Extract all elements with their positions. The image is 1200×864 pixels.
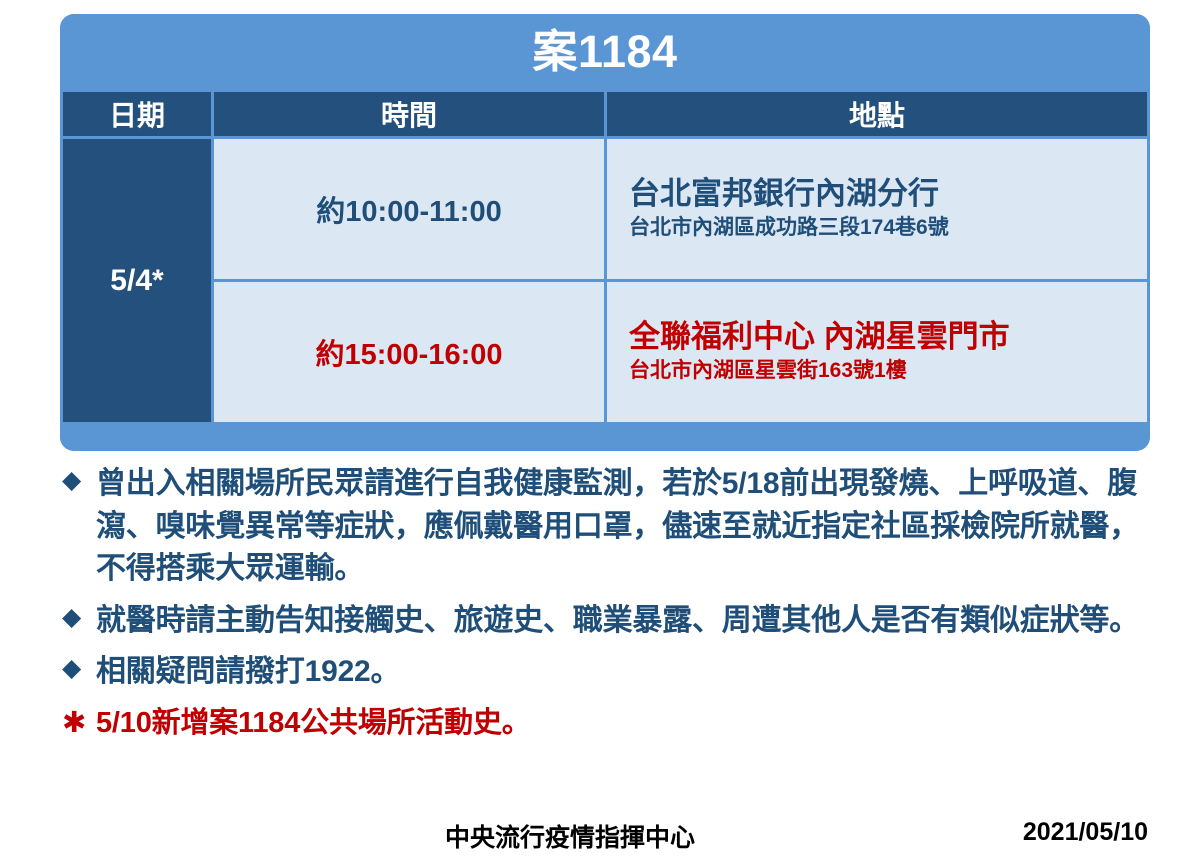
- place-address: 台北市內湖區星雲街163號1樓: [629, 357, 1147, 384]
- list-item: ◆ 相關疑問請撥打1922。: [62, 651, 1152, 694]
- table-row: 約15:00-16:00 全聯福利中心 內湖星雲門市 台北市內湖區星雲街163號…: [63, 282, 1147, 422]
- cell-time: 約10:00-11:00: [214, 139, 604, 279]
- note-text: 相關疑問請撥打1922。: [96, 651, 1152, 694]
- list-item: ◆ 就醫時請主動告知接觸史、旅遊史、職業暴露、周遭其他人是否有類似症狀等。: [62, 600, 1152, 643]
- page-title: 案1184: [60, 14, 1150, 89]
- note-text: 就醫時請主動告知接觸史、旅遊史、職業暴露、周遭其他人是否有類似症狀等。: [96, 600, 1152, 643]
- table-header-row: 日期 時間 地點: [63, 92, 1147, 136]
- activity-history-table: 日期 時間 地點 5/4* 約10:00-11:00 台北富邦銀行內湖分行 台北…: [60, 89, 1150, 425]
- cell-date: 5/4*: [63, 139, 211, 422]
- place-address: 台北市內湖區成功路三段174巷6號: [629, 214, 1147, 241]
- note-text: 曾出入相關場所民眾請進行自我健康監測，若於5/18前出現發燒、上呼吸道、腹瀉、嗅…: [96, 463, 1152, 591]
- time-value: 約15:00-16:00: [316, 339, 503, 371]
- footer-date: 2021/05/10: [1023, 818, 1148, 847]
- poster-root: 案1184 日期 時間 地點 5/4* 約10:00-11:00: [0, 0, 1200, 864]
- card-footer-bar: [60, 425, 1150, 451]
- column-header-date: 日期: [63, 92, 211, 136]
- poster-footer: 中央流行疫情指揮中心 2021/05/10: [0, 818, 1200, 860]
- case-table-card: 案1184 日期 時間 地點 5/4* 約10:00-11:00: [60, 14, 1150, 451]
- footer-organization: 中央流行疫情指揮中心: [445, 818, 695, 854]
- list-item: ◆ 曾出入相關場所民眾請進行自我健康監測，若於5/18前出現發燒、上呼吸道、腹瀉…: [62, 463, 1152, 591]
- place-name: 台北富邦銀行內湖分行: [629, 177, 1147, 212]
- cell-place: 台北富邦銀行內湖分行 台北市內湖區成功路三段174巷6號: [607, 139, 1147, 279]
- column-header-time: 時間: [214, 92, 604, 136]
- diamond-bullet-icon: ◆: [62, 651, 96, 687]
- list-item: ✱ 5/10新增案1184公共場所活動史。: [62, 703, 1152, 744]
- cell-time: 約15:00-16:00: [214, 282, 604, 422]
- cell-place: 全聯福利中心 內湖星雲門市 台北市內湖區星雲街163號1樓: [607, 282, 1147, 422]
- note-text: 5/10新增案1184公共場所活動史。: [96, 703, 1152, 744]
- column-header-place: 地點: [607, 92, 1147, 136]
- diamond-bullet-icon: ◆: [62, 600, 96, 636]
- diamond-bullet-icon: ◆: [62, 463, 96, 499]
- notes-list: ◆ 曾出入相關場所民眾請進行自我健康監測，若於5/18前出現發燒、上呼吸道、腹瀉…: [62, 463, 1152, 753]
- time-value: 約10:00-11:00: [316, 196, 501, 228]
- table-row: 5/4* 約10:00-11:00 台北富邦銀行內湖分行 台北市內湖區成功路三段…: [63, 139, 1147, 279]
- place-name: 全聯福利中心 內湖星雲門市: [629, 320, 1147, 355]
- star-bullet-icon: ✱: [62, 703, 96, 744]
